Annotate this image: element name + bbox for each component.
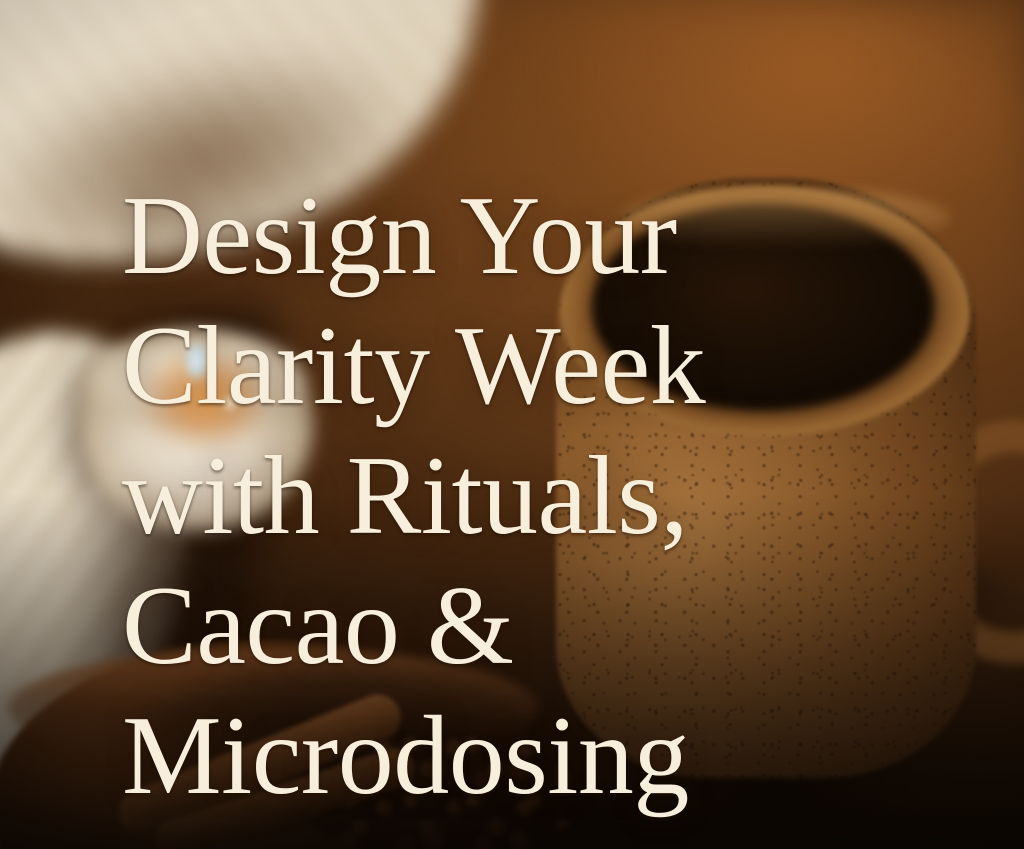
page-title: Design Your Clarity Week with Rituals, C… bbox=[122, 171, 902, 821]
headline-line-3: with Rituals, bbox=[122, 431, 902, 561]
headline-line-5: Microdosing bbox=[122, 691, 902, 821]
headline-line-4: Cacao & bbox=[122, 561, 902, 691]
headline-line-2: Clarity Week bbox=[122, 301, 902, 431]
hero-banner: Design Your Clarity Week with Rituals, C… bbox=[0, 0, 1024, 849]
headline-line-1: Design Your bbox=[122, 171, 902, 301]
